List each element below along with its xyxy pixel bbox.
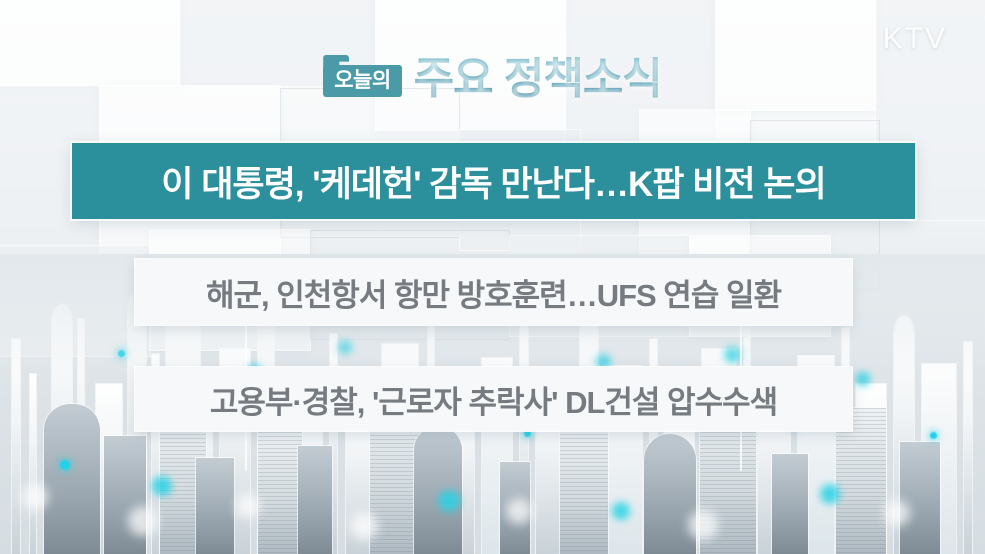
skyline-foreground-building (44, 404, 100, 554)
bokeh-particle (884, 500, 910, 526)
headline-text: 해군, 인천항서 항만 방호훈련…UFS 연습 일환 (206, 270, 781, 315)
broadcast-graphic-stage: KTV 오늘의 주요 정책소식 이 대통령, '케데헌' 감독 만난다…K팝 비… (0, 0, 985, 554)
program-badge: 오늘의 (323, 65, 401, 97)
bar-connector-stem (740, 325, 742, 369)
ktv-channel-logo: KTV (883, 22, 947, 56)
glow-particle (152, 476, 172, 496)
skyline-building (258, 428, 302, 554)
bokeh-particle (22, 484, 48, 510)
bokeh-particle (350, 512, 378, 540)
program-title-group: 오늘의 주요 정책소식 (0, 57, 985, 101)
glow-particle (856, 372, 870, 386)
glow-particle (930, 432, 937, 439)
window-texture (258, 428, 302, 554)
glow-particle (438, 490, 460, 512)
bokeh-particle (236, 494, 260, 518)
program-title: 주요 정책소식 (414, 57, 662, 101)
glow-particle (724, 346, 741, 363)
headline-text: 고용부·경찰, '근로자 추락사' DL건설 압수수색 (210, 377, 777, 422)
bokeh-particle (506, 498, 532, 524)
glow-particle (612, 502, 630, 520)
window-texture (560, 422, 608, 554)
skyline-foreground-building (900, 442, 940, 554)
glow-particle (118, 350, 125, 357)
headline-text: 이 대통령, '케데헌' 감독 만난다…K팝 비전 논의 (161, 156, 825, 207)
skyline-tower (30, 374, 36, 554)
skyline-foreground-building (414, 426, 462, 554)
glow-particle (338, 340, 352, 354)
bar-connector-stem (245, 325, 247, 369)
headline-bar-featured[interactable]: 이 대통령, '케데헌' 감독 만난다…K팝 비전 논의 (72, 143, 915, 219)
skyline-foreground-building (196, 458, 234, 554)
headline-bar-secondary[interactable]: 해군, 인천항서 항만 방호훈련…UFS 연습 일환 (135, 259, 852, 325)
skyline-foreground-building (298, 446, 332, 554)
bar-connector-stem (740, 431, 742, 471)
skyline-tower (964, 342, 972, 554)
skyline-tower (12, 339, 20, 554)
headline-bar-secondary[interactable]: 고용부·경찰, '근로자 추락사' DL건설 압수수색 (135, 367, 852, 431)
bokeh-particle (688, 510, 718, 540)
skyline-building (560, 422, 608, 554)
glow-particle (60, 460, 70, 470)
skyline-foreground-building (104, 436, 146, 554)
glow-particle (524, 430, 531, 437)
skyline-foreground-building (772, 454, 808, 554)
bar-connector-stem (245, 431, 247, 471)
bokeh-particle (128, 506, 158, 536)
skyline-foreground-building (644, 434, 696, 554)
glow-particle (820, 484, 840, 504)
